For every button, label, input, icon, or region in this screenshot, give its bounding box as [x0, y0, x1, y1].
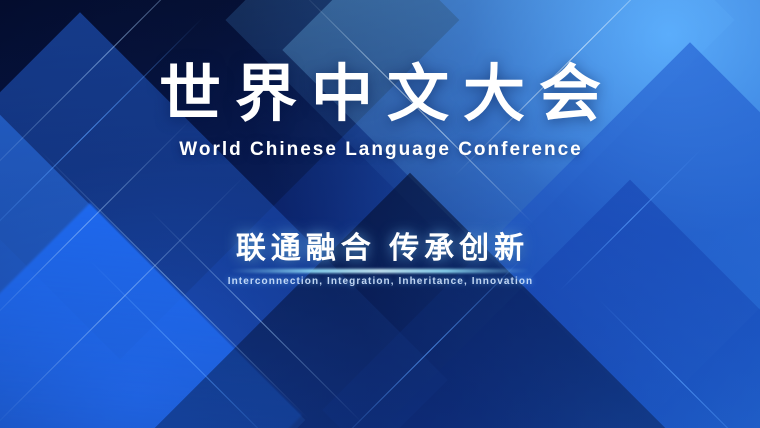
tagline-chinese: 联通融合 传承创新: [231, 223, 529, 267]
tagline-glow-underline: [230, 269, 530, 273]
tagline-block: 联通融合 传承创新 Interconnection, Integration, …: [227, 223, 534, 287]
poster-content: 世界中文大会 World Chinese Language Conference…: [0, 0, 760, 428]
conference-poster: 世界中文大会 World Chinese Language Conference…: [0, 0, 760, 428]
page-title: 世界中文大会: [145, 62, 615, 127]
page-subtitle: World Chinese Language Conference: [177, 139, 582, 161]
tagline-english: Interconnection, Integration, Inheritanc…: [227, 276, 534, 287]
